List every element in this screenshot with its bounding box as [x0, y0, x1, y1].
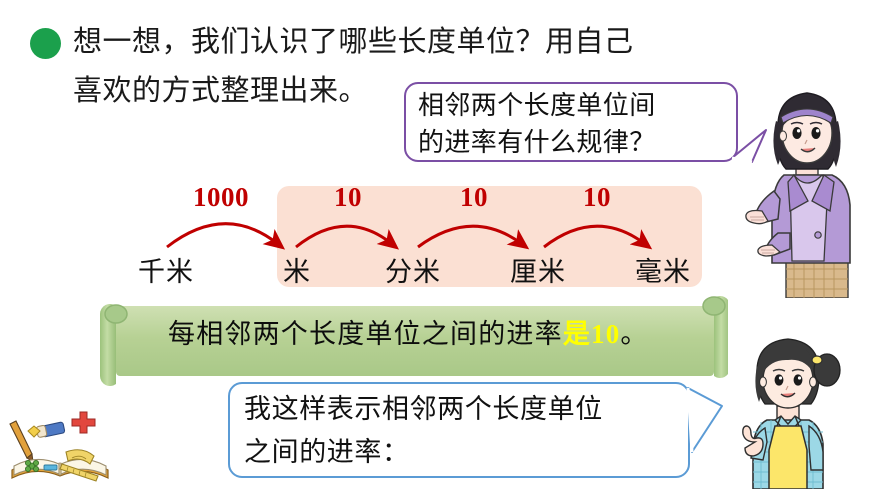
conclusion-text-highlight: 是10 [563, 319, 621, 349]
student-speech-line-1: 我这样表示相邻两个长度单位 [244, 388, 684, 431]
arrow-m-to-dm [296, 226, 392, 247]
girl-illustration [737, 330, 841, 489]
prompt-text: 想一想，我们认识了哪些长度单位？用自己 喜欢的方式整理出来。 [73, 18, 413, 116]
bullet-point-icon [30, 28, 61, 59]
conclusion-text-before: 每相邻两个长度单位之间的进率 [168, 319, 563, 349]
arrow-dm-to-cm [418, 226, 522, 247]
prompt-line-2: 喜欢的方式整理出来。 [73, 67, 413, 116]
unit-label-kilometer: 千米 [138, 250, 194, 289]
rate-label-4: 10 [583, 182, 611, 213]
unit-label-millimeter: 毫米 [635, 250, 691, 289]
student-speech-bubble: 我这样表示相邻两个长度单位 之间的进率： [228, 382, 690, 478]
unit-label-centimeter: 厘米 [510, 250, 566, 289]
arrow-cm-to-mm [544, 226, 645, 247]
student-speech-bubble-tail [684, 384, 726, 456]
book-supplies-illustration [6, 408, 116, 486]
unit-chain-diagram: 1000 10 10 10 千米 米 分米 厘米 毫米 [130, 182, 730, 292]
teacher-speech-line-1: 相邻两个长度单位间 [418, 87, 732, 124]
arrow-km-to-m [167, 224, 278, 247]
student-speech-text: 我这样表示相邻两个长度单位 之间的进率： [244, 388, 684, 474]
conclusion-banner: 每相邻两个长度单位之间的进率是10。 [98, 296, 728, 386]
slide-canvas: 想一想，我们认识了哪些长度单位？用自己 喜欢的方式整理出来。 相邻两个长度单位间… [0, 0, 870, 489]
unit-label-meter: 米 [283, 250, 311, 289]
rate-label-3: 10 [460, 182, 488, 213]
teacher-speech-line-2: 的进率有什么规律？ [418, 124, 732, 161]
student-speech-line-2: 之间的进率： [244, 431, 684, 474]
prompt-line-1: 想一想，我们认识了哪些长度单位？用自己 [73, 18, 413, 67]
rate-label-1: 1000 [193, 182, 249, 213]
rate-label-2: 10 [334, 182, 362, 213]
conclusion-text-after: 。 [620, 319, 648, 349]
conclusion-banner-text: 每相邻两个长度单位之间的进率是10。 [168, 317, 728, 351]
unit-label-decimeter: 分米 [385, 250, 441, 289]
teacher-illustration [744, 83, 870, 298]
teacher-speech-bubble: 相邻两个长度单位间 的进率有什么规律？ [404, 82, 738, 162]
teacher-speech-text: 相邻两个长度单位间 的进率有什么规律？ [418, 87, 732, 161]
